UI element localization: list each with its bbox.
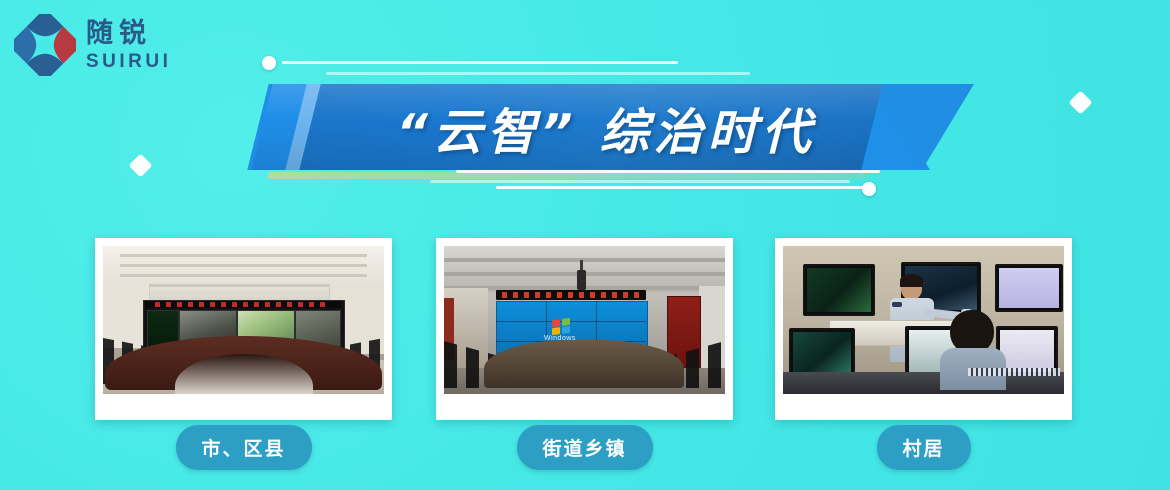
poster-canvas: 随锐 SUIRUI “云智” 综治时代 [0,0,1170,490]
card-label-street-town[interactable]: 街道乡镇 [516,425,652,470]
banner-left-dot-icon [262,56,276,70]
banner-bottom-line-3 [496,186,866,189]
brand-logo[interactable]: 随锐 SUIRUI [14,14,171,76]
card-row: 市、区县 [0,238,1170,478]
photo-frame: Windows [436,238,733,420]
suirui-pinwheel-logo-icon [14,14,76,76]
card-village[interactable]: 村居 [775,238,1072,420]
photo-frame [95,238,392,420]
diamond-left-icon [128,153,152,177]
command-conference-room-photo [103,246,384,394]
card-label-city-district[interactable]: 市、区县 [175,425,311,470]
brand-name-en: SUIRUI [86,52,171,71]
diamond-right-icon [1068,90,1092,114]
card-street-town[interactable]: Windows 街道乡镇 [436,238,733,420]
banner-top-line-1 [282,61,678,64]
brand-wordmark: 随锐 SUIRUI [86,20,171,71]
banner-under-glow [267,172,869,179]
banner-bottom-line-2 [430,180,850,183]
triangle-down-icon [870,84,974,170]
card-city-district[interactable]: 市、区县 [95,238,392,420]
banner-bottom-line-1 [456,170,880,173]
banner-right-dot-icon [862,182,876,196]
street-town-meeting-room-photo: Windows [444,246,725,394]
brand-name-cn: 随锐 [86,20,171,47]
title-banner: “云智” 综治时代 [258,52,948,192]
card-label-village[interactable]: 村居 [876,425,970,470]
photo-frame [775,238,1072,420]
village-monitoring-room-photo [783,246,1064,394]
page-title: “云智” 综治时代 [346,88,866,168]
banner-top-line-2 [326,72,750,75]
